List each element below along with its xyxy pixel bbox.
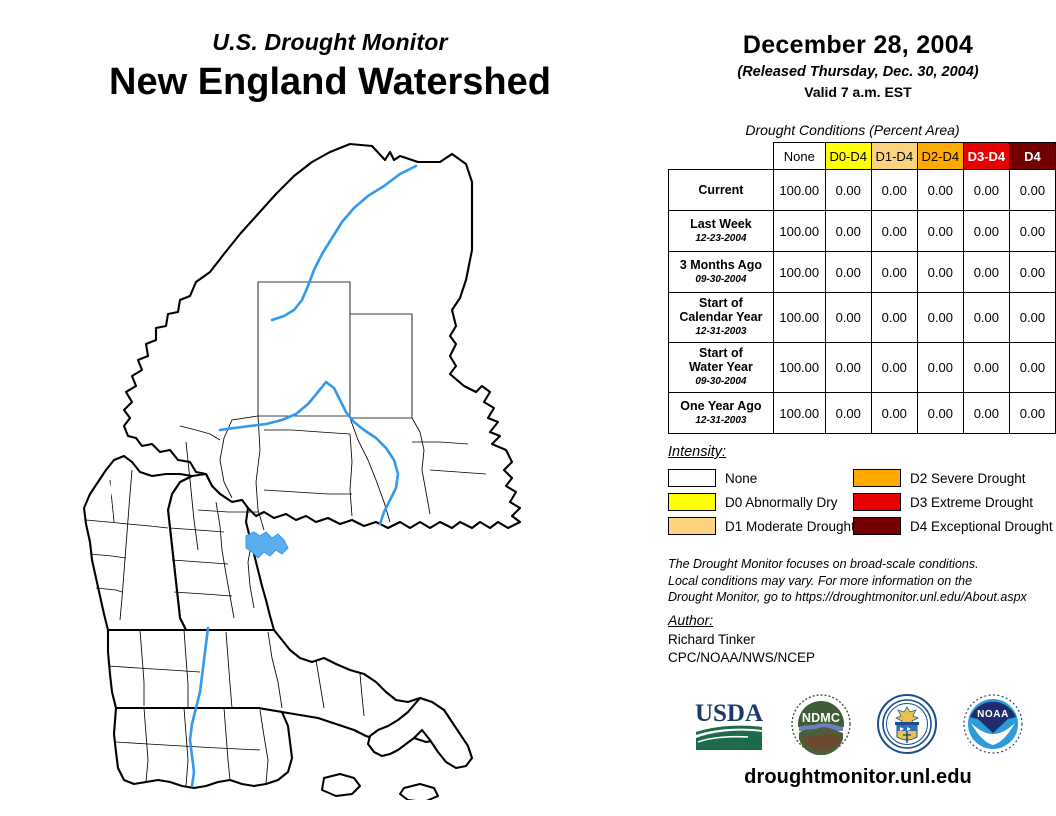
row-title: Last Week [673,217,769,231]
cell-value: 0.00 [1009,393,1055,434]
cell-value: 100.00 [773,393,825,434]
date-block: December 28, 2004 (Released Thursday, De… [660,30,1056,102]
cell-value: 100.00 [773,343,825,393]
map-panel: U.S. Drought Monitor New England Watersh… [0,0,660,816]
column-header-d2d4: D2-D4 [917,143,963,170]
noaa-logo[interactable]: NOAA [962,693,1024,760]
cell-value: 0.00 [963,393,1009,434]
cell-value: 0.00 [1009,252,1055,293]
intensity-legend: Intensity: None D2 Severe Drought D0 Abn… [668,444,1053,538]
cell-value: 0.00 [871,170,917,211]
cell-value: 0.00 [917,252,963,293]
noaa-logo-icon: NOAA [962,693,1024,755]
column-header-d1d4: D1-D4 [871,143,917,170]
author-block: Author: Richard Tinker CPC/NOAA/NWS/NCEP [668,612,1048,667]
table-row: Start ofWater Year 09-30-2004 100.00 0.0… [669,343,1056,393]
author-title: Author: [668,612,1048,628]
cell-value: 0.00 [825,293,871,343]
legend-label: D0 Abnormally Dry [725,495,838,510]
valid-time: Valid 7 a.m. EST [660,83,1056,102]
cell-value: 100.00 [773,293,825,343]
program-title: U.S. Drought Monitor [0,28,660,56]
state-maine [124,144,520,528]
drought-conditions-table: None D0-D4 D1-D4 D2-D4 D3-D4 D4 Current … [668,142,1056,434]
row-label-3-months-ago: 3 Months Ago 09-30-2004 [669,252,774,293]
row-label-start-of-water-year: Start ofWater Year 09-30-2004 [669,343,774,393]
legend-item-none: None [668,469,853,487]
row-date: 09-30-2004 [673,375,769,389]
cell-value: 0.00 [1009,343,1055,393]
cell-value: 100.00 [773,252,825,293]
table-caption: Drought Conditions (Percent Area) [660,122,1045,138]
column-header-d3d4: D3-D4 [963,143,1009,170]
row-title: Current [673,183,769,197]
cell-value: 0.00 [917,343,963,393]
drought-map[interactable] [20,130,640,800]
legend-grid: None D2 Severe Drought D0 Abnormally Dry… [668,466,1053,538]
commerce-seal[interactable] [876,693,938,760]
svg-text:NOAA: NOAA [977,709,1009,720]
svg-text:USDA: USDA [695,700,763,727]
row-date: 12-31-2003 [673,414,769,428]
map-svg [20,130,640,800]
column-header-d0d4: D0-D4 [825,143,871,170]
cell-value: 0.00 [963,293,1009,343]
cell-value: 0.00 [1009,211,1055,252]
disclaimer-line-3: Drought Monitor, go to https://droughtmo… [668,589,1050,606]
row-date: 12-31-2003 [673,325,769,339]
legend-item-d2: D2 Severe Drought [853,469,1053,487]
cell-value: 0.00 [871,343,917,393]
table-corner-cell [669,143,774,170]
cell-value: 0.00 [917,170,963,211]
disclaimer-text: The Drought Monitor focuses on broad-sca… [668,556,1050,606]
legend-label: D4 Exceptional Drought [910,519,1053,534]
cell-value: 0.00 [963,343,1009,393]
disclaimer-line-2: Local conditions may vary. For more info… [668,573,1050,590]
cell-value: 0.00 [825,252,871,293]
cell-value: 0.00 [825,343,871,393]
author-affiliation: CPC/NOAA/NWS/NCEP [668,649,1048,667]
table-row: One Year Ago 12-31-2003 100.00 0.00 0.00… [669,393,1056,434]
row-date: 12-23-2004 [673,232,769,246]
table-header-row: None D0-D4 D1-D4 D2-D4 D3-D4 D4 [669,143,1056,170]
legend-label: D3 Extreme Drought [910,495,1033,510]
row-date: 09-30-2004 [673,273,769,287]
legend-item-d4: D4 Exceptional Drought [853,517,1053,535]
cell-value: 0.00 [963,170,1009,211]
cell-value: 0.00 [871,293,917,343]
usda-logo[interactable]: USDA [692,696,766,757]
cell-value: 0.00 [1009,170,1055,211]
table-row: Last Week 12-23-2004 100.00 0.00 0.00 0.… [669,211,1056,252]
table-row: Start ofCalendar Year 12-31-2003 100.00 … [669,293,1056,343]
row-label-start-of-calendar-year: Start ofCalendar Year 12-31-2003 [669,293,774,343]
cell-value: 0.00 [825,211,871,252]
cell-value: 0.00 [871,211,917,252]
row-label-last-week: Last Week 12-23-2004 [669,211,774,252]
state-connecticut-rhode-island [114,708,292,788]
legend-item-d3: D3 Extreme Drought [853,493,1053,511]
legend-item-d0: D0 Abnormally Dry [668,493,853,511]
intensity-title: Intensity: [668,444,1053,460]
swatch-d0-icon [668,493,716,511]
cell-value: 0.00 [871,393,917,434]
info-panel: December 28, 2004 (Released Thursday, De… [660,0,1056,816]
row-title: 3 Months Ago [673,258,769,272]
svg-text:NDMC: NDMC [802,711,840,725]
ndmc-logo[interactable]: NDMC [790,693,852,760]
cell-value: 0.00 [917,393,963,434]
swatch-d1-icon [668,517,716,535]
disclaimer-line-1: The Drought Monitor focuses on broad-sca… [668,556,1050,573]
cell-value: 0.00 [963,211,1009,252]
table-body: Current 100.00 0.00 0.00 0.00 0.00 0.00 … [669,170,1056,434]
row-title: Start ofCalendar Year [673,296,769,324]
region-title: New England Watershed [0,58,660,106]
column-header-none: None [773,143,825,170]
legend-item-d1: D1 Moderate Drought [668,517,853,535]
cell-value: 0.00 [1009,293,1055,343]
cell-value: 0.00 [871,252,917,293]
cell-value: 0.00 [963,252,1009,293]
ndmc-logo-icon: NDMC [790,693,852,755]
table-row: 3 Months Ago 09-30-2004 100.00 0.00 0.00… [669,252,1056,293]
legend-label: None [725,471,757,486]
marthas-vineyard [322,774,360,796]
row-title: One Year Ago [673,399,769,413]
swatch-none-icon [668,469,716,487]
logo-row: USDA NDMC [660,686,1056,766]
row-title: Start ofWater Year [673,346,769,374]
row-label-one-year-ago: One Year Ago 12-31-2003 [669,393,774,434]
map-land [84,144,520,800]
swatch-d2-icon [853,469,901,487]
title-block: U.S. Drought Monitor New England Watersh… [0,28,660,106]
legend-label: D2 Severe Drought [910,471,1026,486]
cell-value: 0.00 [825,393,871,434]
commerce-seal-icon [876,693,938,755]
site-url[interactable]: droughtmonitor.unl.edu [660,766,1056,789]
cell-value: 100.00 [773,170,825,211]
usda-logo-icon: USDA [692,696,766,752]
cell-value: 0.00 [917,211,963,252]
swatch-d3-icon [853,493,901,511]
release-date: (Released Thursday, Dec. 30, 2004) [660,62,1056,82]
valid-date: December 28, 2004 [660,30,1056,60]
table-header: None D0-D4 D1-D4 D2-D4 D3-D4 D4 [669,143,1056,170]
cell-value: 0.00 [917,293,963,343]
row-label-current: Current [669,170,774,211]
cell-value: 100.00 [773,211,825,252]
swatch-d4-icon [853,517,901,535]
nantucket [400,784,438,800]
column-header-d4: D4 [1009,143,1055,170]
author-name: Richard Tinker [668,631,1048,649]
legend-label: D1 Moderate Drought [725,519,855,534]
table-row: Current 100.00 0.00 0.00 0.00 0.00 0.00 [669,170,1056,211]
cell-value: 0.00 [825,170,871,211]
